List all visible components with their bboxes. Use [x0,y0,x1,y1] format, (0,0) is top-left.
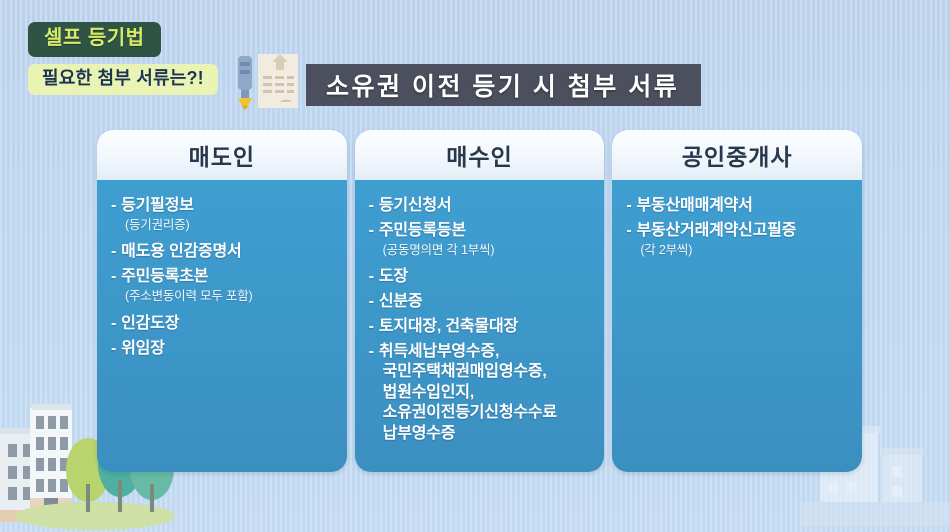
list-item-main: -주민등록등본 [369,221,595,241]
list-item-note: (주소변동이력 모두 포함) [125,288,337,304]
list-item-text: 인감도장 [121,314,179,334]
list-item-main: -등기신청서 [369,196,595,216]
list-item: -등기신청서 [369,196,595,216]
panel-header-3: 공인중개사 [612,130,862,180]
list-item-note: (공동명의면 각 1부씩) [383,242,595,258]
bullet-dash-icon: - [111,339,116,359]
bullet-dash-icon: - [369,342,374,362]
list-item-continuation: 국민주택채권매입영수증, [383,362,595,382]
list-item-main: -신분증 [369,292,595,312]
list-item: -인감도장 [111,314,337,334]
list-item: -신분증 [369,292,595,312]
panel-3: 공인중개사-부동산매매계약서-부동산거래계약신고필증(각 2부씩) [612,130,862,472]
bullet-dash-icon: - [369,292,374,312]
list-item: -취득세납부영수증,국민주택채권매입영수증,법원수입인지,소유권이전등기신청수수… [369,342,595,444]
badge-primary: 셀프 등기법 [28,22,161,57]
list-item-text: 토지대장, 건축물대장 [379,317,518,337]
panel-body-1: -등기필정보(등기권리증)-매도용 인감증명서-주민등록초본(주소변동이력 모두… [97,180,347,472]
list-item-text: 매도용 인감증명서 [121,242,241,262]
list-item: -토지대장, 건축물대장 [369,317,595,337]
list-item-main: -부동산매매계약서 [626,196,852,216]
list-item-text: 등기신청서 [379,196,452,216]
list-item-note: (각 2부씩) [640,242,852,258]
list-item-main: -위임장 [111,339,337,359]
list-item-text: 부동산거래계약신고필증 [636,221,796,241]
badge-secondary: 필요한 첨부 서류는?! [28,64,218,95]
panel-header-1: 매도인 [97,130,347,180]
bullet-dash-icon: - [111,196,116,216]
panel-header-label: 매수인 [446,138,512,172]
list-item: -부동산매매계약서 [626,196,852,216]
list-item-text: 도장 [379,267,408,287]
list-item-text: 부동산매매계약서 [636,196,752,216]
list-item: -도장 [369,267,595,287]
bullet-dash-icon: - [369,196,374,216]
list-item-main: -부동산거래계약신고필증 [626,221,852,241]
page-title-text: 소유권 이전 등기 시 첨부 서류 [326,67,679,103]
list-item-continuation: 소유권이전등기신청수수료 [383,403,595,423]
panel-header-label: 매도인 [189,138,255,172]
list-item: -부동산거래계약신고필증(각 2부씩) [626,221,852,258]
list-item-main: -주민등록초본 [111,267,337,287]
title-row: 소유권 이전 등기 시 첨부 서류 [228,48,701,110]
list-item-main: -인감도장 [111,314,337,334]
bullet-dash-icon: - [111,314,116,334]
list-item: -위임장 [111,339,337,359]
list-item-text: 주민등록등본 [379,221,466,241]
list-item: -매도용 인감증명서 [111,242,337,262]
badge-group: 셀프 등기법 필요한 첨부 서류는?! [28,22,218,95]
list-item-main: -등기필정보 [111,196,337,216]
list-item-text: 위임장 [121,339,165,359]
list-item-continuation: 법원수입인지, [383,383,595,403]
page-title: 소유권 이전 등기 시 첨부 서류 [306,64,701,106]
list-item-text: 신분증 [379,292,423,312]
list-item-continuation: 납부영수증 [383,424,595,444]
bullet-dash-icon: - [626,196,631,216]
infographic-stage: 셀프 등기법 필요한 첨부 서류는?! [0,0,950,532]
panel-header-2: 매수인 [355,130,605,180]
list-item: -등기필정보(등기권리증) [111,196,337,233]
list-item: -주민등록등본(공동명의면 각 1부씩) [369,221,595,258]
panel-body-3: -부동산매매계약서-부동산거래계약신고필증(각 2부씩) [612,180,862,472]
bullet-dash-icon: - [111,242,116,262]
document-stamp-icon [228,48,306,110]
list-item-text: 등기필정보 [121,196,194,216]
bullet-dash-icon: - [626,221,631,241]
list-item-main: -매도용 인감증명서 [111,242,337,262]
panel-2: 매수인-등기신청서-주민등록등본(공동명의면 각 1부씩)-도장-신분증-토지대… [355,130,605,472]
panel-header-label: 공인중개사 [682,138,793,172]
bullet-dash-icon: - [369,221,374,241]
bullet-dash-icon: - [369,317,374,337]
bullet-dash-icon: - [111,267,116,287]
list-item-text: 주민등록초본 [121,267,208,287]
list-item-main: -토지대장, 건축물대장 [369,317,595,337]
list-item-main: -도장 [369,267,595,287]
document-columns: 매도인-등기필정보(등기권리증)-매도용 인감증명서-주민등록초본(주소변동이력… [97,130,862,472]
list-item: -주민등록초본(주소변동이력 모두 포함) [111,267,337,304]
panel-body-2: -등기신청서-주민등록등본(공동명의면 각 1부씩)-도장-신분증-토지대장, … [355,180,605,472]
list-item-note: (등기권리증) [125,217,337,233]
panel-1: 매도인-등기필정보(등기권리증)-매도용 인감증명서-주민등록초본(주소변동이력… [97,130,347,472]
list-item-main: -취득세납부영수증, [369,342,595,362]
list-item-text: 취득세납부영수증, [379,342,499,362]
bullet-dash-icon: - [369,267,374,287]
